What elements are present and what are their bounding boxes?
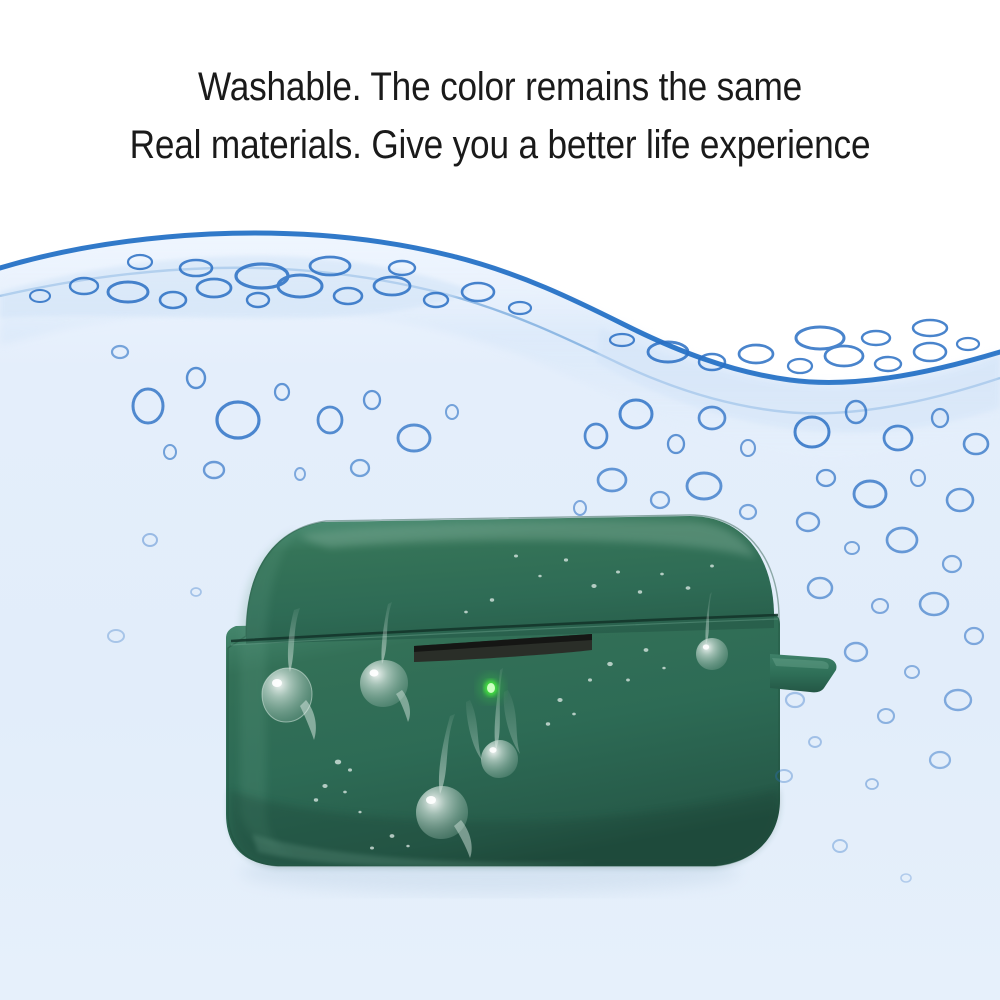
product-banner: Washable. The color remains the same Rea…	[0, 0, 1000, 1000]
headline-line-2: Real materials. Give you a better life e…	[60, 116, 940, 174]
product-case	[226, 515, 837, 894]
headline-line-1: Washable. The color remains the same	[60, 58, 940, 116]
charge-indicator-led	[477, 673, 505, 703]
headline-block: Washable. The color remains the same Rea…	[0, 58, 1000, 174]
droplet	[696, 638, 728, 670]
